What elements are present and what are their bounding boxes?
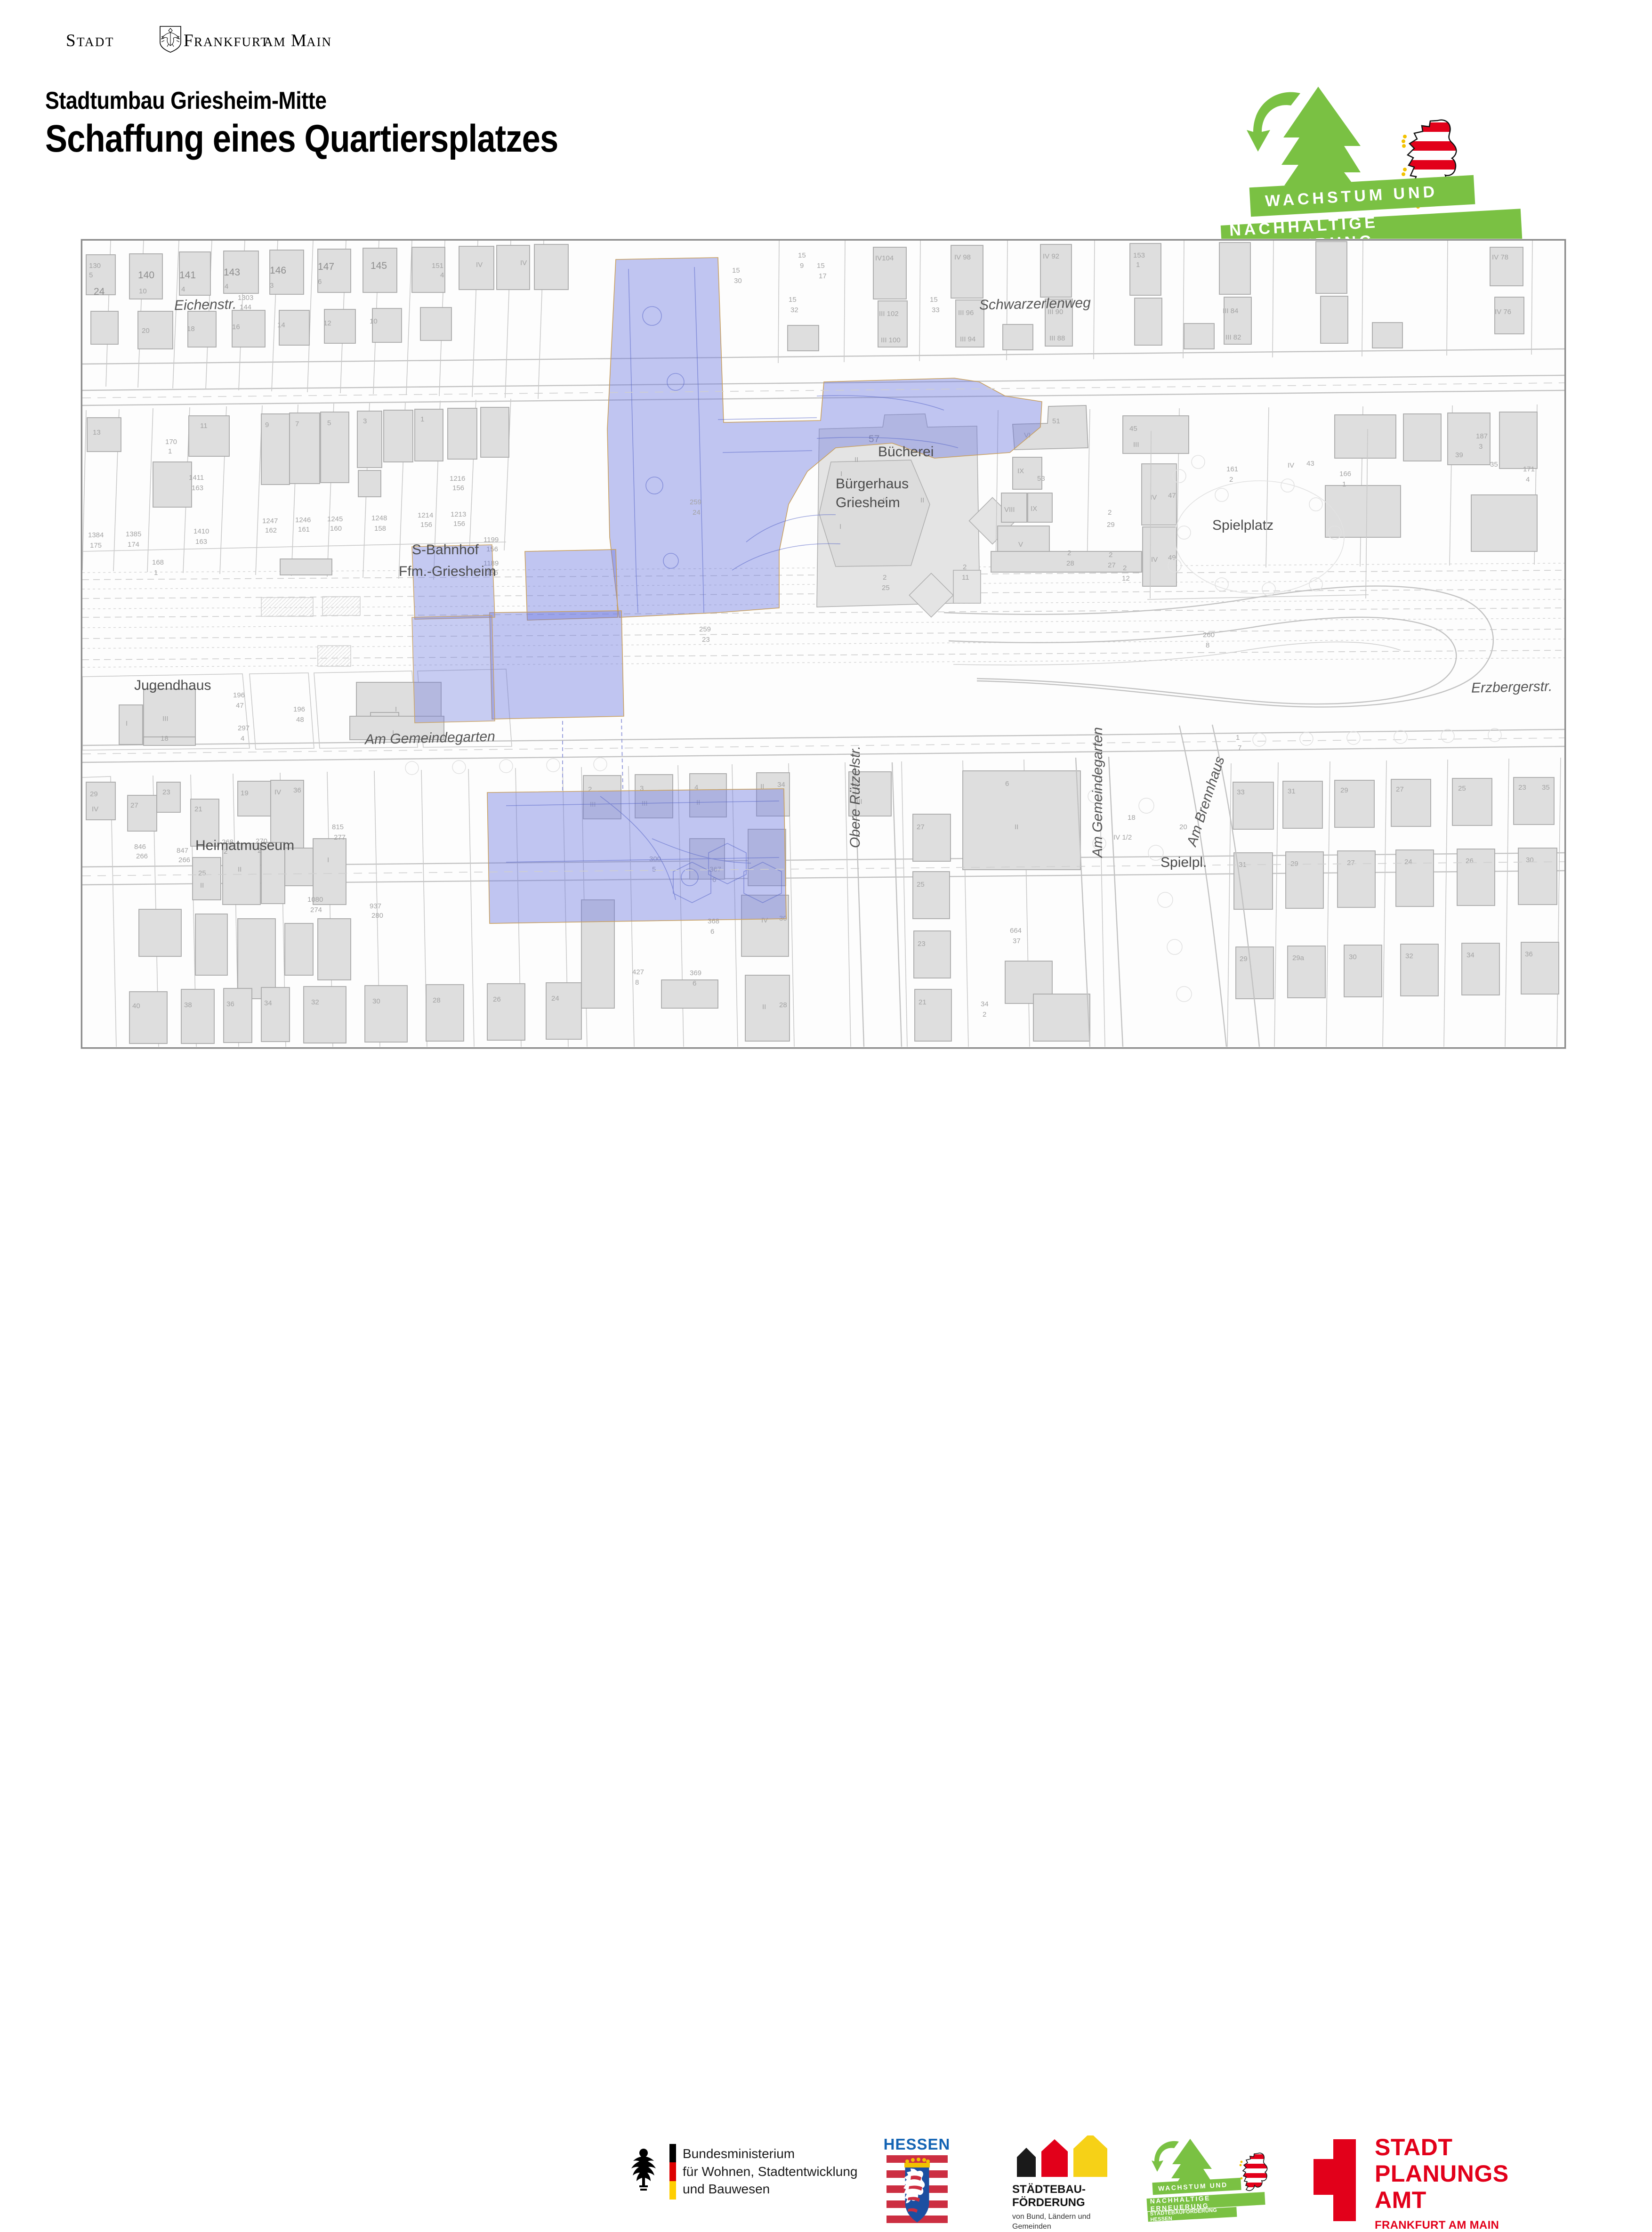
svg-text:29: 29 [1240, 955, 1248, 963]
svg-text:24: 24 [1404, 858, 1412, 866]
svg-text:23: 23 [1518, 784, 1526, 792]
svg-text:10: 10 [370, 317, 378, 325]
svg-text:12: 12 [323, 319, 331, 327]
svg-text:143: 143 [224, 267, 240, 278]
svg-text:45: 45 [1129, 425, 1137, 433]
svg-text:21: 21 [919, 998, 927, 1006]
svg-text:153: 153 [1133, 251, 1145, 259]
svg-text:268: 268 [222, 838, 234, 846]
logo-stadtplanungsamt: STADT PLANUNGS AMT FRANKFURT AM MAIN [1314, 2134, 1558, 2228]
svg-text:20: 20 [1179, 823, 1187, 831]
svg-text:IV 98: IV 98 [954, 253, 971, 261]
spa-line1: STADT [1375, 2134, 1509, 2160]
spa-sub: FRANKFURT AM MAIN [1375, 2219, 1509, 2232]
svg-text:IV: IV [520, 259, 527, 267]
svg-text:I: I [839, 523, 841, 531]
svg-text:36: 36 [293, 786, 301, 794]
hessen-wordmark: HESSEN [883, 2135, 951, 2153]
svg-text:12: 12 [1122, 574, 1130, 582]
german-flag-bar [669, 2144, 676, 2200]
svg-text:270: 270 [256, 837, 267, 845]
svg-text:IV104: IV104 [875, 254, 894, 262]
svg-text:18: 18 [161, 735, 169, 743]
svg-text:1213: 1213 [451, 510, 466, 518]
svg-text:1080: 1080 [307, 896, 323, 904]
svg-text:23: 23 [702, 636, 710, 644]
svg-text:AIN: AIN [306, 35, 332, 49]
svg-text:6: 6 [693, 979, 696, 987]
svg-text:25: 25 [198, 869, 206, 877]
svg-text:163: 163 [192, 484, 203, 492]
svg-text:146: 146 [270, 265, 286, 276]
svg-text:3: 3 [363, 417, 367, 425]
svg-text:2: 2 [258, 847, 261, 855]
svg-text:25: 25 [1458, 784, 1466, 793]
svg-text:427: 427 [632, 968, 644, 976]
svg-text:1: 1 [154, 569, 158, 577]
svg-text:1248: 1248 [371, 514, 387, 522]
svg-text:28: 28 [1066, 559, 1074, 567]
svg-text:15: 15 [930, 296, 938, 304]
svg-text:6: 6 [1005, 780, 1009, 788]
cadastral-map[interactable]: .plot{fill:none;stroke:#c9c9c9;stroke-wi… [81, 239, 1566, 1049]
svg-text:32: 32 [790, 306, 798, 314]
sb-sub-line1: von Bund, Ländern und [1012, 2212, 1130, 2222]
svg-text:37: 37 [1013, 937, 1021, 945]
logo-wachstum-erneuerung-small: WACHSTUM UND NACHHALTIGE ERNEUERUNG STÄD… [1149, 2137, 1285, 2224]
svg-text:27: 27 [130, 801, 138, 809]
svg-text:4: 4 [1526, 476, 1530, 484]
svg-text:2: 2 [883, 574, 886, 582]
svg-text:III 88: III 88 [1049, 334, 1065, 342]
svg-text:196: 196 [293, 705, 305, 713]
svg-text:III: III [1133, 441, 1139, 449]
bmwsb-line2: für Wohnen, Stadtentwicklung [683, 2163, 857, 2181]
svg-text:8: 8 [1206, 641, 1209, 649]
svg-text:161: 161 [1226, 465, 1238, 473]
svg-text:M: M [291, 31, 306, 50]
svg-text:187: 187 [1476, 432, 1488, 440]
svg-text:33: 33 [932, 306, 940, 314]
svg-text:1247: 1247 [262, 517, 278, 525]
svg-text:27: 27 [917, 823, 925, 831]
svg-text:36: 36 [226, 1000, 234, 1008]
svg-text:3: 3 [270, 282, 274, 290]
svg-text:33: 33 [1237, 788, 1245, 796]
svg-text:1385: 1385 [126, 530, 141, 538]
svg-text:1: 1 [1342, 480, 1346, 488]
logo-hessen: HESSEN [883, 2135, 951, 2225]
svg-text:26: 26 [493, 995, 501, 1003]
svg-text:1384: 1384 [88, 531, 104, 539]
svg-text:15: 15 [732, 267, 740, 275]
svg-text:19: 19 [241, 789, 249, 797]
svg-text:266: 266 [136, 852, 148, 860]
svg-text:2: 2 [983, 1011, 986, 1019]
svg-text:23: 23 [918, 940, 926, 948]
svg-text:48: 48 [296, 716, 304, 724]
svg-text:156: 156 [452, 484, 464, 492]
svg-text:2: 2 [1229, 476, 1233, 484]
svg-text:16: 16 [232, 323, 240, 331]
svg-text:9: 9 [800, 262, 804, 270]
svg-text:1303: 1303 [238, 294, 253, 302]
svg-text:2: 2 [1108, 509, 1112, 517]
svg-text:II: II [200, 881, 204, 890]
svg-text:35: 35 [1490, 461, 1498, 469]
svg-text:II: II [854, 456, 858, 464]
svg-text:34: 34 [777, 781, 785, 789]
svg-text:259: 259 [690, 498, 701, 506]
city-logo-stadt-frankfurt: S TADT F RANKFURT AM M AIN [66, 24, 367, 53]
svg-text:II: II [1015, 823, 1018, 831]
sb-sub-line2: Gemeinden [1012, 2222, 1130, 2232]
stadtplanungsamt-mark-icon [1314, 2136, 1356, 2221]
svg-text:7: 7 [295, 420, 299, 428]
svg-text:10: 10 [139, 287, 147, 295]
svg-text:1246: 1246 [295, 516, 311, 524]
svg-text:260: 260 [1203, 631, 1215, 639]
svg-text:156: 156 [420, 521, 432, 529]
svg-text:196: 196 [233, 691, 245, 699]
logo-staedtebaufoerderung: STÄDTEBAU- FÖRDERUNG von Bund, Ländern u… [1012, 2135, 1130, 2225]
hessen-coat-of-arms-icon [883, 2155, 951, 2226]
svg-text:IV: IV [1151, 556, 1158, 564]
spa-line3: AMT [1375, 2187, 1509, 2213]
svg-text:30: 30 [734, 277, 742, 285]
svg-text:2: 2 [1067, 549, 1071, 557]
svg-text:IV 92: IV 92 [1043, 252, 1059, 260]
svg-text:17: 17 [819, 272, 827, 280]
bmwsb-line3: und Bauwesen [683, 2180, 857, 2198]
sb-title-line2: FÖRDERUNG [1012, 2196, 1130, 2209]
svg-text:IV 78: IV 78 [1492, 253, 1508, 261]
svg-text:297: 297 [238, 724, 250, 732]
svg-text:29: 29 [1290, 860, 1298, 868]
svg-text:2: 2 [1123, 564, 1127, 572]
svg-text:30: 30 [1349, 953, 1357, 961]
svg-text:846: 846 [134, 843, 146, 851]
svg-text:IV 76: IV 76 [1495, 308, 1511, 316]
svg-text:29: 29 [1107, 521, 1115, 529]
svg-text:15: 15 [817, 262, 825, 270]
footer-logo-bar: Bundesministerium für Wohnen, Stadtentwi… [0, 1064, 1652, 1168]
svg-text:49: 49 [1168, 554, 1176, 562]
svg-text:141: 141 [179, 270, 196, 281]
three-houses-icon [1012, 2135, 1130, 2178]
svg-text:I: I [126, 720, 128, 728]
svg-text:5: 5 [89, 271, 93, 279]
svg-text:14: 14 [277, 321, 285, 329]
project-subtitle: Stadtumbau Griesheim-Mitte [45, 87, 327, 115]
svg-text:847: 847 [177, 847, 188, 855]
svg-text:937: 937 [370, 902, 381, 910]
svg-text:30: 30 [372, 997, 380, 1005]
svg-text:III 90: III 90 [1048, 308, 1063, 316]
svg-text:VIII: VIII [1004, 506, 1015, 514]
svg-text:28: 28 [433, 996, 441, 1004]
svg-text:23: 23 [162, 788, 170, 796]
svg-text:AM: AM [264, 35, 286, 49]
svg-text:IV: IV [476, 261, 483, 269]
svg-text:47: 47 [1168, 492, 1176, 500]
svg-text:43: 43 [1306, 460, 1314, 468]
svg-text:27: 27 [1108, 561, 1116, 569]
svg-text:III: III [856, 798, 862, 806]
svg-text:147: 147 [318, 261, 334, 272]
page-title: Schaffung eines Quartiersplatzes [45, 117, 558, 161]
svg-text:38: 38 [184, 1001, 192, 1009]
svg-text:6: 6 [318, 278, 322, 286]
svg-text:III 94: III 94 [960, 335, 975, 343]
svg-text:140: 140 [138, 270, 154, 281]
svg-text:II: II [762, 1003, 766, 1011]
svg-text:III 102: III 102 [879, 310, 899, 318]
svg-text:34: 34 [1467, 951, 1475, 959]
svg-text:3: 3 [1479, 443, 1483, 451]
tree-arrow-icon [1243, 85, 1398, 193]
svg-text:15: 15 [789, 296, 797, 304]
svg-text:4: 4 [241, 735, 244, 743]
svg-text:18: 18 [1128, 814, 1136, 822]
svg-text:166: 166 [1339, 470, 1351, 478]
svg-text:2: 2 [963, 563, 967, 571]
svg-text:170: 170 [165, 438, 177, 446]
svg-text:53: 53 [1037, 475, 1045, 483]
svg-text:25: 25 [917, 881, 925, 889]
map-drawing: .plot{fill:none;stroke:#c9c9c9;stroke-wi… [82, 241, 1564, 1047]
svg-text:20: 20 [142, 327, 150, 335]
svg-text:1216: 1216 [450, 475, 465, 483]
svg-text:39: 39 [1455, 451, 1463, 459]
svg-text:III 84: III 84 [1223, 307, 1238, 315]
svg-text:47: 47 [236, 702, 244, 710]
svg-text:277: 277 [334, 833, 346, 841]
svg-text:1411: 1411 [189, 474, 204, 482]
svg-text:1: 1 [1236, 734, 1240, 742]
svg-text:I: I [327, 856, 329, 864]
svg-text:25: 25 [882, 584, 890, 592]
svg-text:III: III [162, 715, 169, 723]
svg-text:21: 21 [194, 805, 202, 813]
svg-text:34: 34 [264, 999, 272, 1007]
svg-text:29: 29 [90, 790, 98, 798]
svg-text:1: 1 [420, 415, 424, 423]
svg-text:160: 160 [330, 525, 342, 533]
svg-text:S: S [66, 31, 76, 50]
bundesadler-icon [626, 2147, 661, 2192]
svg-text:130: 130 [89, 262, 101, 270]
svg-text:158: 158 [374, 525, 386, 533]
svg-text:274: 274 [310, 906, 322, 914]
svg-text:24: 24 [94, 286, 105, 297]
svg-text:35: 35 [1542, 784, 1550, 792]
sb-title-line1: STÄDTEBAU- [1012, 2183, 1130, 2196]
svg-text:369: 369 [690, 969, 701, 977]
svg-text:175: 175 [90, 542, 102, 550]
svg-text:III 96: III 96 [958, 309, 974, 317]
svg-text:174: 174 [128, 541, 139, 549]
bmwsb-line1: Bundesministerium [683, 2145, 857, 2163]
svg-text:2: 2 [224, 848, 227, 856]
svg-text:1245: 1245 [327, 515, 343, 523]
svg-text:156: 156 [453, 520, 465, 528]
svg-text:162: 162 [265, 526, 277, 534]
svg-text:I: I [392, 729, 394, 737]
svg-text:168: 168 [152, 558, 164, 566]
svg-text:II: II [920, 496, 924, 504]
svg-text:I: I [395, 705, 397, 713]
svg-text:IX: IX [1031, 505, 1037, 513]
svg-text:11: 11 [962, 574, 969, 582]
svg-text:27: 27 [1347, 859, 1355, 867]
svg-text:18: 18 [187, 325, 195, 333]
svg-text:V: V [1018, 541, 1023, 549]
logo-bundesministerium: Bundesministerium für Wohnen, Stadtentwi… [626, 2140, 890, 2206]
svg-text:1214: 1214 [418, 511, 433, 519]
svg-text:IV: IV [274, 788, 281, 796]
svg-text:36: 36 [1525, 950, 1533, 958]
svg-text:1199: 1199 [484, 536, 499, 544]
svg-text:II: II [238, 865, 242, 873]
svg-text:51: 51 [1052, 417, 1060, 425]
svg-text:259: 259 [699, 625, 711, 633]
svg-text:1410: 1410 [193, 527, 209, 535]
svg-text:4: 4 [181, 285, 185, 293]
svg-text:32: 32 [311, 998, 319, 1006]
svg-text:145: 145 [371, 260, 387, 271]
svg-text:24: 24 [693, 509, 701, 517]
svg-text:11: 11 [200, 422, 208, 430]
svg-text:664: 664 [1010, 927, 1022, 935]
svg-text:III 100: III 100 [881, 336, 901, 344]
svg-text:TADT: TADT [77, 35, 114, 49]
svg-text:7: 7 [1238, 744, 1241, 752]
svg-text:6: 6 [710, 928, 714, 936]
svg-text:IV 1/2: IV 1/2 [1113, 833, 1132, 841]
svg-text:26: 26 [1466, 857, 1474, 865]
svg-text:IV: IV [1150, 493, 1157, 501]
svg-text:151: 151 [432, 262, 443, 270]
svg-text:IV: IV [1288, 461, 1294, 469]
svg-text:163: 163 [195, 538, 207, 546]
svg-text:IX: IX [1017, 467, 1024, 475]
svg-text:5: 5 [327, 419, 331, 427]
svg-text:2: 2 [1109, 551, 1112, 559]
svg-text:RANKFURT: RANKFURT [194, 35, 269, 49]
svg-text:III 82: III 82 [1225, 333, 1241, 341]
svg-text:13: 13 [93, 429, 101, 437]
svg-text:1: 1 [1136, 261, 1140, 269]
svg-text:F: F [184, 31, 193, 50]
svg-text:15: 15 [798, 251, 806, 259]
svg-text:40: 40 [132, 1002, 140, 1010]
svg-text:24: 24 [551, 995, 559, 1003]
svg-text:II: II [883, 496, 886, 504]
svg-text:144: 144 [240, 303, 251, 311]
spa-line2: PLANUNGS [1375, 2160, 1509, 2187]
svg-text:34: 34 [981, 1000, 989, 1008]
svg-text:31: 31 [1288, 787, 1296, 795]
svg-text:815: 815 [332, 823, 344, 831]
svg-text:I: I [840, 470, 842, 478]
svg-text:8: 8 [635, 979, 639, 987]
svg-text:266: 266 [178, 856, 190, 864]
svg-text:30: 30 [1526, 856, 1534, 864]
svg-text:9: 9 [265, 421, 269, 429]
svg-text:171: 171 [1523, 465, 1535, 473]
svg-text:32: 32 [1405, 952, 1413, 960]
svg-text:IV: IV [92, 805, 98, 813]
svg-text:27: 27 [1396, 785, 1404, 793]
svg-text:28: 28 [779, 1001, 787, 1009]
svg-text:161: 161 [298, 526, 310, 534]
svg-text:1: 1 [168, 447, 172, 455]
svg-text:29a: 29a [1292, 954, 1305, 962]
svg-text:4: 4 [440, 271, 444, 279]
svg-text:4: 4 [225, 283, 228, 291]
svg-text:280: 280 [371, 912, 383, 920]
svg-text:29: 29 [1340, 786, 1348, 794]
